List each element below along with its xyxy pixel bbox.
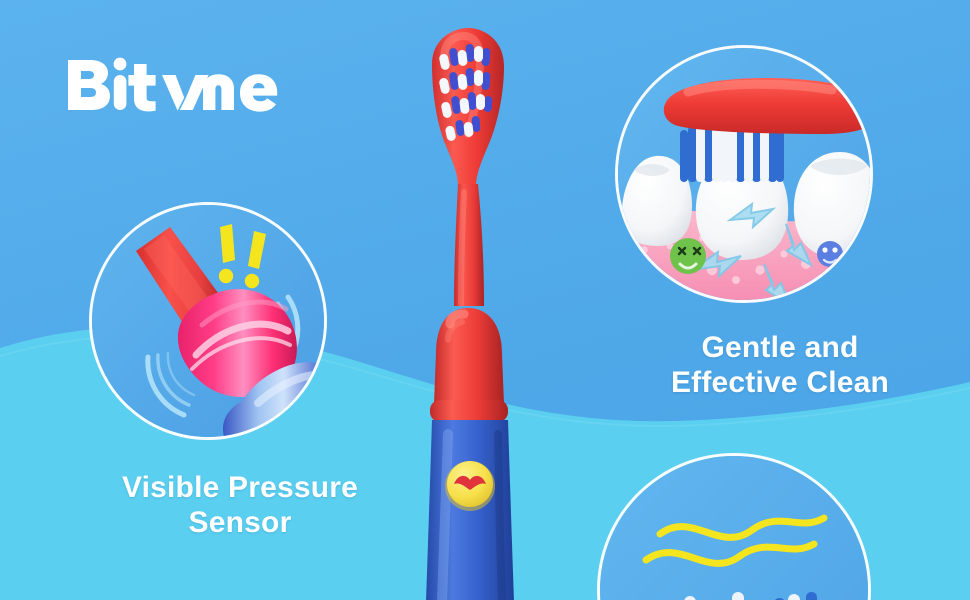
- inset-pressure-sensor: [92, 205, 324, 437]
- caption-gentle-clean: Gentle and Effective Clean: [615, 330, 945, 401]
- caption-pressure-sensor: Visible Pressure Sensor: [60, 470, 420, 541]
- germ-green-icon: [670, 238, 706, 274]
- brush-on-teeth-illustration: [618, 48, 870, 300]
- caption-clean-line1: Gentle and: [615, 330, 945, 365]
- pressure-sensor-illustration: [92, 205, 324, 437]
- caption-clean-line2: Effective Clean: [615, 365, 945, 400]
- inset-gentle-clean: [618, 48, 870, 300]
- caption-pressure-line1: Visible Pressure: [60, 470, 420, 505]
- caption-pressure-line2: Sensor: [60, 505, 420, 540]
- product-marketing-banner: Visible Pressure Sensor Gentle and Effec…: [0, 0, 970, 600]
- brand-logo: [62, 54, 292, 116]
- power-button[interactable]: [445, 461, 495, 511]
